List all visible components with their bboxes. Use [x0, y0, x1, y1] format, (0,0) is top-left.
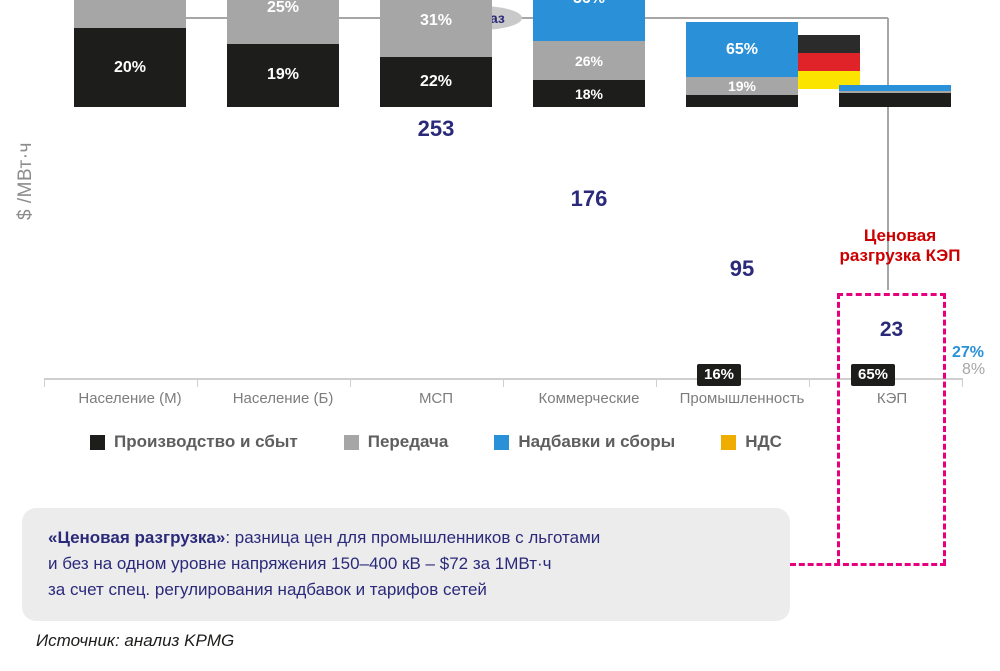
axis-tick	[44, 378, 45, 387]
category-label-naselenie-b: Население (Б)	[208, 390, 358, 407]
price-relief-title: Ценовая разгрузка КЭП	[805, 226, 995, 266]
legend-label: Надбавки и сборы	[518, 432, 675, 452]
segment-nadbavki: 65%	[686, 22, 798, 77]
segment-proizvodstvo: 22%	[380, 57, 492, 107]
callout-lead: «Ценовая разгрузка»	[48, 528, 225, 547]
bar-kommercheskie[interactable]: 56% 26% 18%	[533, 0, 645, 107]
axis-tick	[197, 378, 198, 387]
price-relief-title-line1: Ценовая	[864, 226, 936, 245]
axis-tick	[962, 378, 963, 387]
bar-total-label: 95	[672, 256, 812, 282]
callout-line-2: и без на одном уровне напряжения 150–400…	[48, 551, 766, 577]
legend-item-proizvodstvo[interactable]: Производство и сбыт	[90, 432, 298, 452]
segment-proizvodstvo	[839, 93, 951, 107]
source-note: Источник: анализ KPMG	[36, 631, 234, 651]
bar-kep[interactable]	[839, 85, 951, 107]
segment-proizvodstvo: 19%	[227, 44, 339, 107]
bar-promyshlennost[interactable]: 65% 19%	[686, 22, 798, 107]
legend-item-nadbavki[interactable]: Надбавки и сборы	[494, 432, 675, 452]
legend-item-nds[interactable]: НДС	[721, 432, 782, 452]
bar-total-label: 176	[519, 186, 659, 212]
legend-swatch-blue-icon	[494, 435, 509, 450]
category-label-promyshlennost: Промышленность	[667, 390, 817, 407]
segment-peredacha: 25%	[227, 0, 339, 44]
legend-swatch-black-icon	[90, 435, 105, 450]
bar-msp[interactable]: 47% 31% 22%	[380, 0, 492, 107]
bar-total-label: 253	[366, 116, 506, 142]
callout-line-1: «Ценовая разгрузка»: разница цен для про…	[48, 525, 766, 551]
callout-line-1-rest: : разница цен для промышленников с льгот…	[225, 528, 600, 547]
price-relief-callout: «Ценовая разгрузка»: разница цен для про…	[22, 508, 790, 621]
legend-label: НДС	[745, 432, 782, 452]
segment-peredacha: 28%	[74, 0, 186, 28]
chart-canvas: $ /МВт·ч x16 раз 375 36% 28% 20% Населен…	[0, 0, 1000, 671]
segment-nadbavki: 56%	[533, 0, 645, 41]
axis-tick	[350, 378, 351, 387]
legend-item-peredacha[interactable]: Передача	[344, 432, 449, 452]
bar-naselenie-m[interactable]: 36% 28% 20%	[74, 0, 186, 107]
segment-label-kep-blue: 27%	[952, 344, 984, 362]
axis-tick	[656, 378, 657, 387]
bar-total-label-kep: 23	[837, 318, 946, 342]
legend-swatch-orange-icon	[721, 435, 736, 450]
segment-proizvodstvo: 20%	[74, 28, 186, 107]
segment-peredacha: 26%	[533, 41, 645, 80]
segment-label-promyshlennost-black: 16%	[697, 364, 741, 386]
segment-proizvodstvo	[686, 95, 798, 107]
price-relief-connector-line	[790, 563, 946, 566]
bar-naselenie-b[interactable]: 40% 25% 19%	[227, 0, 339, 107]
chart-legend: Производство и сбыт Передача Надбавки и …	[90, 432, 782, 452]
callout-line-3: за счет спец. регулирования надбавок и т…	[48, 577, 766, 603]
category-label-msp: МСП	[361, 390, 511, 407]
legend-label: Передача	[368, 432, 449, 452]
price-relief-title-line2: разгрузка КЭП	[839, 246, 960, 265]
axis-tick	[809, 378, 810, 387]
segment-proizvodstvo: 18%	[533, 80, 645, 107]
segment-label-kep-black: 65%	[851, 364, 895, 386]
legend-swatch-gray-icon	[344, 435, 359, 450]
segment-label-kep-gray: 8%	[962, 361, 985, 379]
axis-tick	[503, 378, 504, 387]
legend-label: Производство и сбыт	[114, 432, 298, 452]
segment-peredacha: 19%	[686, 77, 798, 95]
category-label-kommercheskie: Коммерческие	[514, 390, 664, 407]
segment-peredacha: 31%	[380, 0, 492, 57]
category-label-naselenie-m: Население (М)	[55, 390, 205, 407]
